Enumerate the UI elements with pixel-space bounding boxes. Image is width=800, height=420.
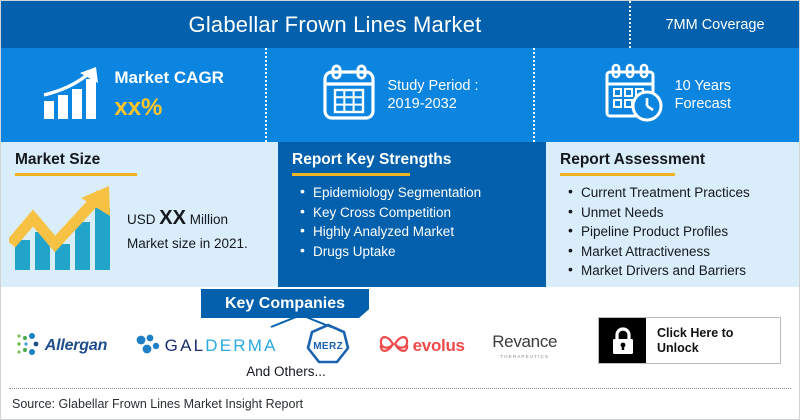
market-size-suffix: Million (190, 212, 228, 227)
calendar-icon (321, 64, 377, 127)
list-item: Key Cross Competition (300, 203, 546, 223)
list-item: Unmet Needs (568, 203, 799, 223)
revance-tagline: THERAPEUTICS (500, 355, 549, 360)
footer-divider (9, 388, 791, 389)
logo-revance: Revance THERAPEUTICS (492, 333, 557, 360)
bar-chart-arrow-up-icon (42, 65, 104, 126)
list-item: Highly Analyzed Market (300, 222, 546, 242)
list-item: Market Drivers and Barriers (568, 261, 799, 281)
revance-wordmark: Revance (492, 333, 557, 350)
cagr-text-block: Market CAGR xx% (114, 67, 224, 122)
source-text: Source: Glabellar Frown Lines Market Ins… (12, 397, 303, 411)
market-size-body: USD XX Million Market size in 2021. (1, 176, 278, 279)
assessment-title-rule (560, 173, 675, 176)
key-strengths-title: Report Key Strengths (278, 142, 546, 169)
stats-strip: Market CAGR xx% Study (1, 48, 799, 142)
logo-galderma: GALDERMA (135, 333, 278, 360)
unlock-line1: Click Here to (657, 326, 780, 341)
infographic-root: Glabellar Frown Lines Market 7MM Coverag… (0, 0, 800, 420)
logo-evolus: evolus (379, 332, 465, 361)
calendar-clock-icon (603, 63, 665, 128)
merz-wordmark: MERZ (313, 341, 343, 352)
list-item: Pipeline Product Profiles (568, 222, 799, 242)
assessment-list: Current Treatment Practices Unmet Needs … (568, 183, 799, 281)
header-bar: Glabellar Frown Lines Market 7MM Coverag… (1, 1, 799, 48)
market-size-value: XX (159, 207, 186, 229)
list-item: Epidemiology Segmentation (300, 183, 546, 203)
market-size-prefix: USD (127, 212, 156, 227)
header-divider (629, 1, 631, 48)
and-others-label: And Others... (201, 364, 371, 379)
panel-report-assessment: Report Assessment Current Treatment Prac… (546, 142, 799, 287)
evolus-butterfly-icon (379, 332, 409, 361)
forecast-text-block: 10 Years Forecast (675, 77, 731, 113)
stat-cell-forecast: 10 Years Forecast (535, 48, 799, 142)
unlock-label: Click Here to Unlock (646, 326, 780, 356)
key-strengths-list: Epidemiology Segmentation Key Cross Comp… (300, 183, 546, 261)
growth-arrow-bar-chart-icon (9, 182, 121, 279)
panels-row: Market Size USD (1, 142, 799, 287)
galderma-text-dark: GAL (165, 336, 206, 355)
stat-cell-cagr: Market CAGR xx% (1, 48, 265, 142)
logo-merz: MERZ (305, 325, 351, 367)
panel-market-size: Market Size USD (1, 142, 278, 287)
study-period-text-block: Study Period : 2019-2032 (387, 77, 478, 113)
list-item: Drugs Uptake (300, 242, 546, 262)
allergan-wordmark: Allergan (45, 337, 107, 355)
cagr-value: xx% (114, 93, 224, 123)
key-strengths-title-rule (292, 173, 410, 176)
panel-key-strengths: Report Key Strengths Epidemiology Segmen… (278, 142, 546, 287)
list-item: Current Treatment Practices (568, 183, 799, 203)
study-period-line1: Study Period : (387, 77, 478, 95)
logo-allergan: Allergan (15, 331, 107, 362)
galderma-dots-icon (135, 333, 161, 360)
evolus-wordmark: evolus (413, 336, 465, 356)
market-size-text: USD XX Million Market size in 2021. (127, 206, 248, 256)
unlock-line2: Unlock (657, 341, 780, 356)
stat-cell-study-period: Study Period : 2019-2032 (267, 48, 532, 142)
market-size-line2: Market size in 2021. (127, 232, 248, 256)
assessment-title: Report Assessment (546, 142, 799, 169)
market-size-title: Market Size (1, 142, 278, 169)
company-logos-row: Allergan GALDERMA MERZ (1, 323, 571, 369)
study-period-line2: 2019-2032 (387, 95, 478, 113)
lock-icon (599, 318, 646, 363)
click-here-to-unlock-button[interactable]: Click Here to Unlock (598, 317, 781, 364)
galderma-text-light: DERMA (205, 336, 277, 355)
forecast-line2: Forecast (675, 95, 731, 113)
page-title: Glabellar Frown Lines Market (1, 12, 629, 38)
list-item: Market Attractiveness (568, 242, 799, 262)
forecast-line1: 10 Years (675, 77, 731, 95)
allergan-dots-icon (15, 331, 41, 362)
galderma-wordmark: GALDERMA (165, 336, 278, 356)
cagr-title: Market CAGR (114, 67, 224, 88)
market-size-line1: USD XX Million (127, 206, 248, 232)
coverage-badge: 7MM Coverage (631, 17, 799, 33)
